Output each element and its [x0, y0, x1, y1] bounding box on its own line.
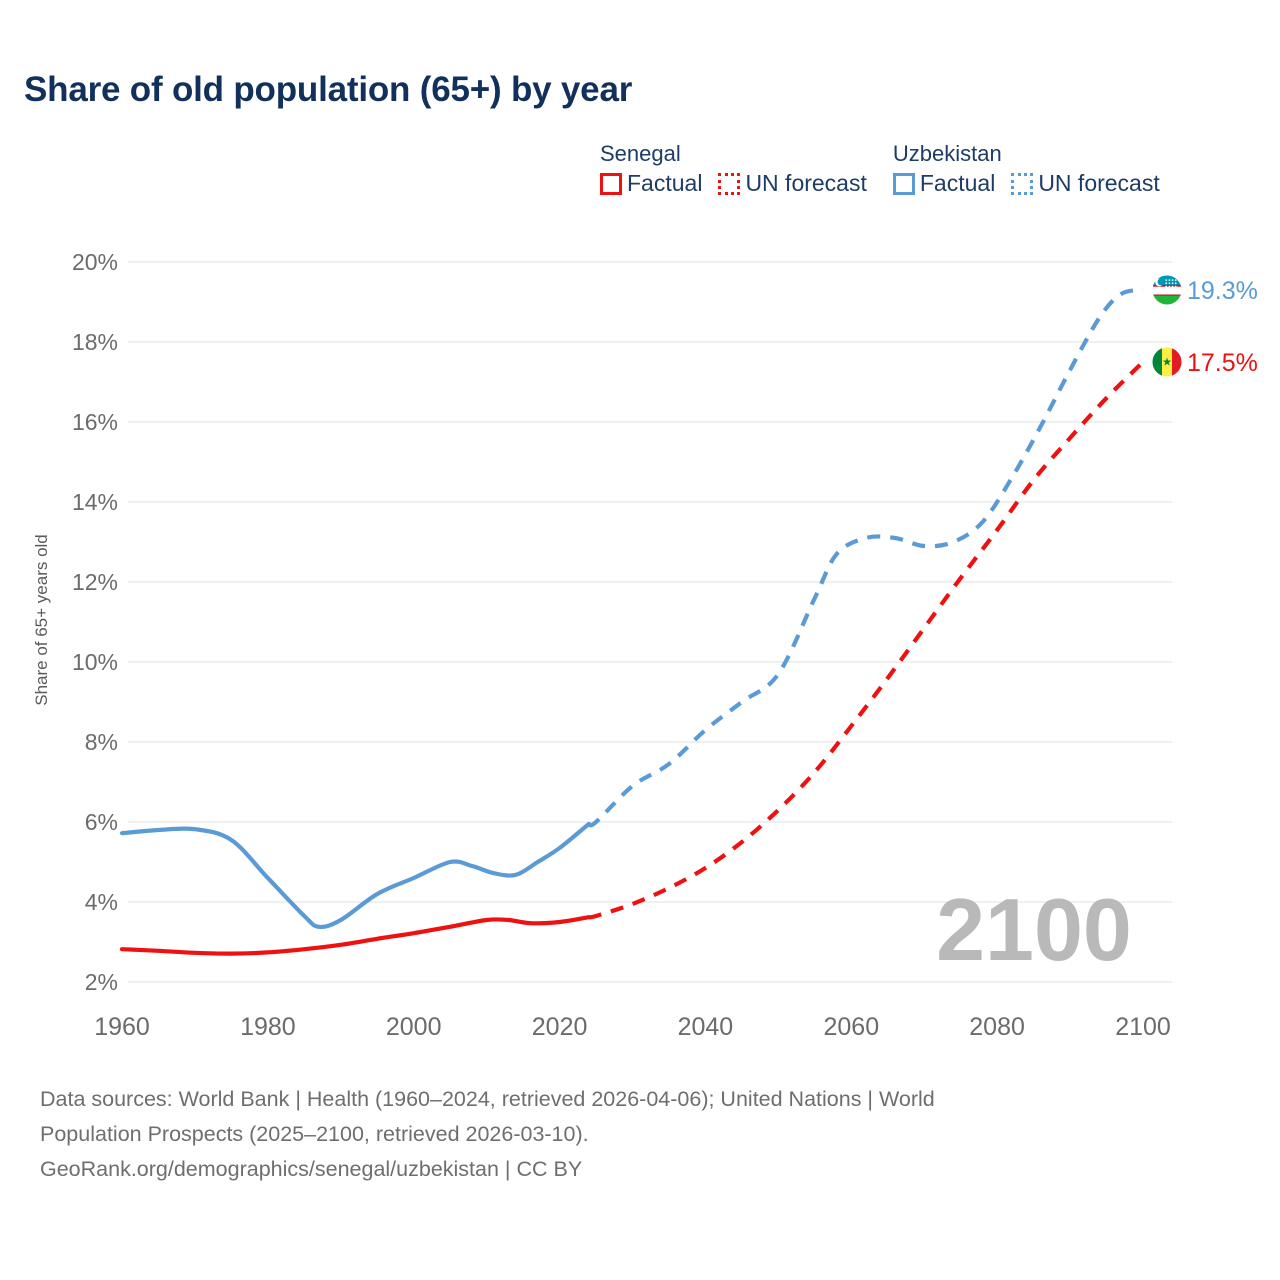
- series-line-forecast-uzbekistan: [589, 290, 1143, 825]
- y-tick-label: 12%: [72, 569, 118, 595]
- data-series: [122, 290, 1143, 954]
- series-line-factual-uzbekistan: [122, 824, 589, 927]
- end-label-uzbekistan: 19.3%: [1187, 277, 1258, 305]
- x-tick-label: 2000: [386, 1013, 442, 1041]
- x-tick-label: 2080: [969, 1013, 1025, 1041]
- footer-line-1: Data sources: World Bank | Health (1960–…: [40, 1082, 1220, 1117]
- plot-area: 2%4%6%8%10%12%14%16%18%20% 1960198020002…: [0, 0, 1280, 1060]
- senegal-flag-icon: [1152, 347, 1182, 377]
- x-tick-label: 2100: [1115, 1013, 1171, 1041]
- x-axis-ticks: 19601980200020202040206020802100: [94, 1013, 1171, 1041]
- end-label-senegal: 17.5%: [1187, 349, 1258, 377]
- footer-sources: Data sources: World Bank | Health (1960–…: [40, 1082, 1220, 1186]
- line-chart-svg: 2%4%6%8%10%12%14%16%18%20% 1960198020002…: [0, 0, 1280, 1060]
- footer-line-3: GeoRank.org/demographics/senegal/uzbekis…: [40, 1152, 1220, 1187]
- y-tick-label: 18%: [72, 329, 118, 355]
- y-axis-label: Share of 65+ years old: [32, 534, 51, 706]
- series-line-factual-senegal: [122, 917, 589, 953]
- y-tick-label: 2%: [85, 969, 118, 995]
- y-axis-ticks: 2%4%6%8%10%12%14%16%18%20%: [72, 249, 118, 995]
- y-tick-label: 6%: [85, 809, 118, 835]
- gridlines: [128, 262, 1172, 982]
- y-tick-label: 4%: [85, 889, 118, 915]
- y-tick-label: 20%: [72, 249, 118, 275]
- y-tick-label: 14%: [72, 489, 118, 515]
- x-tick-label: 1960: [94, 1013, 150, 1041]
- uzbekistan-flag-icon: [1152, 275, 1182, 305]
- x-tick-label: 2020: [532, 1013, 588, 1041]
- x-tick-label: 1980: [240, 1013, 296, 1041]
- x-tick-label: 2040: [678, 1013, 734, 1041]
- chart-page: Share of old population (65+) by year Se…: [0, 0, 1280, 1280]
- series-line-forecast-senegal: [589, 362, 1143, 917]
- y-tick-label: 8%: [85, 729, 118, 755]
- x-tick-label: 2060: [823, 1013, 879, 1041]
- y-tick-label: 10%: [72, 649, 118, 675]
- footer-line-2: Population Prospects (2025–2100, retriev…: [40, 1117, 1220, 1152]
- watermark-year: 2100: [936, 880, 1132, 979]
- end-markers: 19.3%17.5%: [1152, 275, 1258, 377]
- y-tick-label: 16%: [72, 409, 118, 435]
